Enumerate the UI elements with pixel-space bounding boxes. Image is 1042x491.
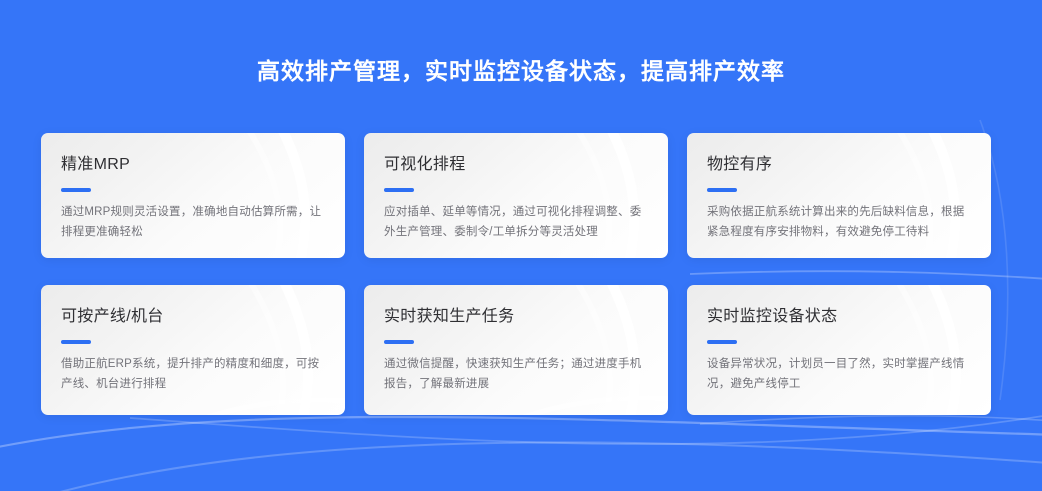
card-accent-bar <box>61 188 91 192</box>
card-description: 设备异常状况，计划员一目了然，实时掌握产线情况，避免产线停工 <box>707 354 971 394</box>
card-accent-bar <box>384 340 414 344</box>
card-description: 借助正航ERP系统，提升排产的精度和细度，可按产线、机台进行排程 <box>61 354 325 394</box>
card-title: 精准MRP <box>61 155 325 175</box>
feature-card[interactable]: 精准MRP 通过MRP规则灵活设置，准确地自动估算所需，让排程更准确轻松 <box>41 133 345 258</box>
feature-card[interactable]: 物控有序 采购依据正航系统计算出来的先后缺料信息，根据紧急程度有序安排物料，有效… <box>687 133 991 258</box>
card-title: 可视化排程 <box>384 155 648 175</box>
feature-card[interactable]: 可按产线/机台 借助正航ERP系统，提升排产的精度和细度，可按产线、机台进行排程 <box>41 285 345 415</box>
feature-card[interactable]: 实时监控设备状态 设备异常状况，计划员一目了然，实时掌握产线情况，避免产线停工 <box>687 285 991 415</box>
card-description: 应对插单、延单等情况，通过可视化排程调整、委外生产管理、委制令/工单拆分等灵活处… <box>384 202 648 242</box>
card-description: 采购依据正航系统计算出来的先后缺料信息，根据紧急程度有序安排物料，有效避免停工待… <box>707 202 971 242</box>
page-title: 高效排产管理，实时监控设备状态，提高排产效率 <box>0 52 1042 86</box>
feature-card[interactable]: 可视化排程 应对插单、延单等情况，通过可视化排程调整、委外生产管理、委制令/工单… <box>364 133 668 258</box>
card-description: 通过微信提醒，快速获知生产任务；通过进度手机报告，了解最新进展 <box>384 354 648 394</box>
card-accent-bar <box>707 188 737 192</box>
card-title: 实时获知生产任务 <box>384 307 648 327</box>
feature-card[interactable]: 实时获知生产任务 通过微信提醒，快速获知生产任务；通过进度手机报告，了解最新进展 <box>364 285 668 415</box>
card-title: 可按产线/机台 <box>61 307 325 327</box>
card-description: 通过MRP规则灵活设置，准确地自动估算所需，让排程更准确轻松 <box>61 202 325 242</box>
card-accent-bar <box>61 340 91 344</box>
card-accent-bar <box>384 188 414 192</box>
feature-card-grid: 精准MRP 通过MRP规则灵活设置，准确地自动估算所需，让排程更准确轻松 可视化… <box>41 133 992 415</box>
card-accent-bar <box>707 340 737 344</box>
card-title: 实时监控设备状态 <box>707 307 971 327</box>
card-title: 物控有序 <box>707 155 971 175</box>
